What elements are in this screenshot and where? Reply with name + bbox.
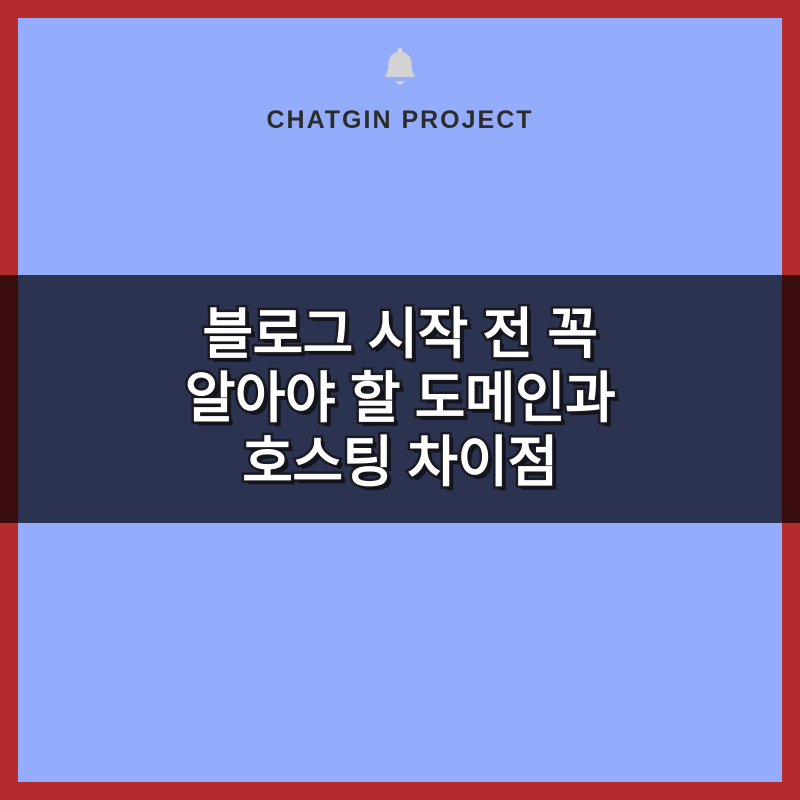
title-band: 블로그 시작 전 꼭 알아야 할 도메인과 호스팅 차이점 bbox=[0, 275, 800, 523]
headline: 블로그 시작 전 꼭 알아야 할 도메인과 호스팅 차이점 bbox=[185, 303, 615, 494]
band-edge-right bbox=[782, 275, 800, 523]
band-edge-left bbox=[0, 275, 18, 523]
bell-icon bbox=[377, 44, 423, 90]
header-block: CHATGIN PROJECT bbox=[18, 18, 782, 268]
thumbnail-canvas: CHATGIN PROJECT 블로그 시작 전 꼭 알아야 할 도메인과 호스… bbox=[0, 0, 800, 800]
brand-title: CHATGIN PROJECT bbox=[266, 106, 533, 135]
